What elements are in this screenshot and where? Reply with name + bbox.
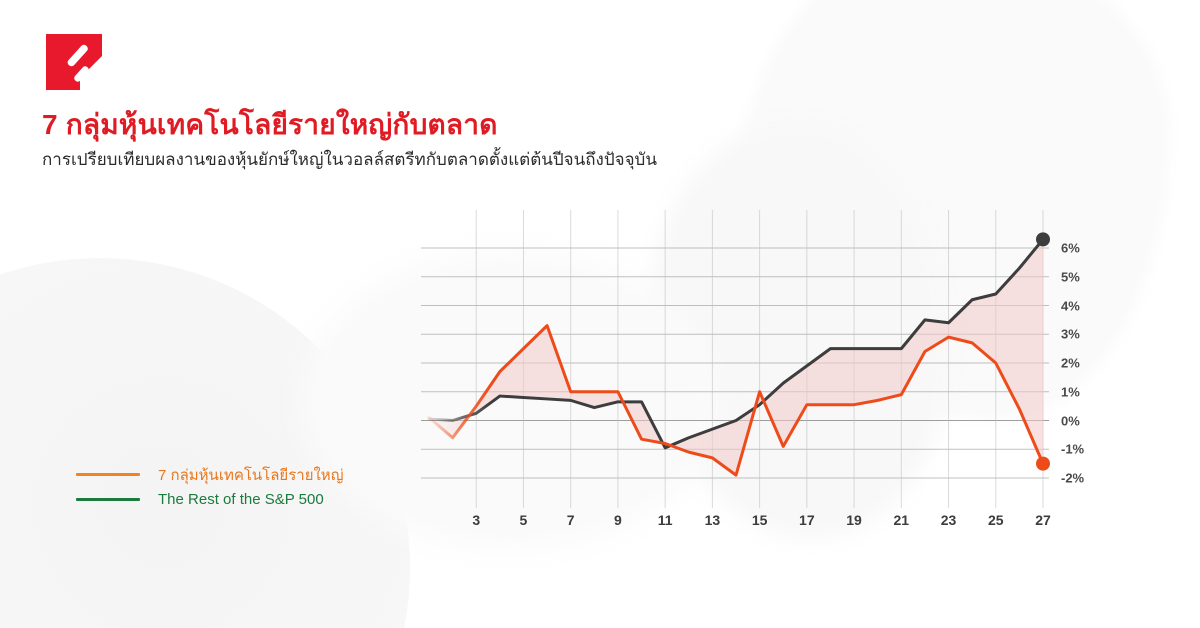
y-tick-6pct: 6% — [1061, 241, 1080, 256]
line-chart: 3579111315171921232527 6%5%4%3%2%1%0%-1%… — [0, 0, 1200, 628]
y-tick-0pct: 0% — [1061, 413, 1080, 428]
x-tick-11: 11 — [658, 512, 673, 528]
y-tick-3pct: 3% — [1061, 327, 1080, 342]
x-tick-5: 5 — [520, 512, 528, 528]
x-tick-9: 9 — [614, 512, 622, 528]
x-tick-23: 23 — [941, 512, 957, 528]
y-tick-5pct: 5% — [1061, 269, 1080, 284]
x-tick-21: 21 — [894, 512, 910, 528]
y-tick-4pct: 4% — [1061, 298, 1080, 313]
chart-plot-area — [0, 0, 1200, 628]
x-tick-7: 7 — [567, 512, 575, 528]
y-tick-1pct: 1% — [1061, 384, 1080, 399]
x-tick-15: 15 — [752, 512, 768, 528]
y-tick-minus1pct: -1% — [1061, 442, 1084, 457]
x-tick-19: 19 — [846, 512, 862, 528]
x-tick-25: 25 — [988, 512, 1004, 528]
x-tick-17: 17 — [799, 512, 815, 528]
x-tick-13: 13 — [705, 512, 721, 528]
infographic-canvas: 7 กลุ่มหุ้นเทคโนโลยีรายใหญ่กับตลาด การเป… — [0, 0, 1200, 628]
y-tick-minus2pct: -2% — [1061, 471, 1084, 486]
x-tick-27: 27 — [1035, 512, 1051, 528]
y-tick-2pct: 2% — [1061, 356, 1080, 371]
x-tick-3: 3 — [472, 512, 480, 528]
